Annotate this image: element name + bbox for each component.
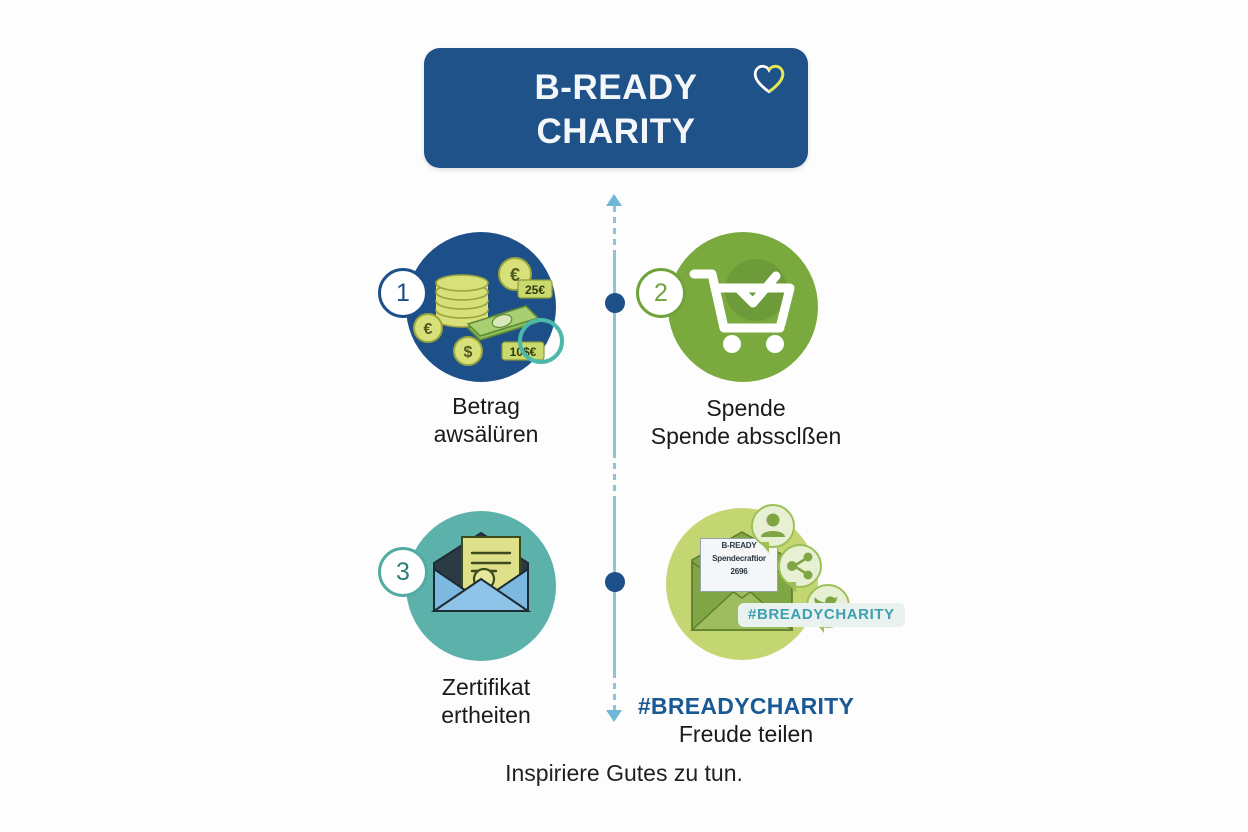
svg-text:€: € bbox=[424, 321, 433, 338]
header-card: B-READY CHARITY bbox=[424, 48, 808, 168]
step-3-labels: Zertifikat ertheiten bbox=[336, 673, 636, 729]
step-4: B-READY Spendecraftior 2696 bbox=[596, 496, 896, 748]
certificate-envelope-icon bbox=[406, 511, 556, 661]
step-2: 2 Spende Spende abssclßen bbox=[596, 232, 896, 450]
step-4-labels: #BREADYCHARITY Freude teilen bbox=[596, 692, 896, 748]
step-1-accent-ring bbox=[518, 318, 564, 364]
certificate-line-3: 2696 bbox=[701, 565, 777, 578]
step-1-labels: Betrag awsälüren bbox=[336, 392, 636, 448]
step-2-label-line-1: Spende bbox=[596, 394, 896, 422]
step-3-label-line-2: ertheiten bbox=[336, 701, 636, 729]
step-2-number-badge: 2 bbox=[636, 268, 686, 318]
user-icon bbox=[753, 506, 793, 546]
step-3-visual: 3 bbox=[336, 511, 636, 661]
step-2-label-line-2: Spende abssclßen bbox=[596, 422, 896, 450]
step-2-labels: Spende Spende abssclßen bbox=[596, 394, 896, 450]
certificate-line-2: Spendecraftior bbox=[701, 552, 777, 565]
step-3: 3 Zertifikat ertheiten bbox=[336, 511, 636, 729]
step-4-visual: B-READY Spendecraftior 2696 bbox=[596, 496, 896, 672]
step-3-number-badge: 3 bbox=[378, 547, 428, 597]
svg-text:$: $ bbox=[464, 344, 473, 361]
infographic-canvas: B-READY CHARITY bbox=[0, 0, 1248, 832]
step-1-visual: € € $ 25€ 10$€ 1 bbox=[336, 232, 636, 382]
overlay-hashtag: #BREADYCHARITY bbox=[738, 603, 905, 627]
step-1-number-badge: 1 bbox=[378, 268, 428, 318]
step-1: € € $ 25€ 10$€ 1 Betrag awsälüren bbox=[336, 232, 636, 448]
share-icon bbox=[780, 546, 820, 586]
svg-text:25€: 25€ bbox=[525, 283, 545, 297]
user-bubble bbox=[751, 504, 795, 548]
page-title: B-READY CHARITY bbox=[424, 66, 808, 154]
footer-caption: Inspiriere Gutes zu tun. bbox=[0, 760, 1248, 787]
step-1-label-line-2: awsälüren bbox=[336, 420, 636, 448]
step-1-label-line-1: Betrag bbox=[336, 392, 636, 420]
step-3-label-line-1: Zertifikat bbox=[336, 673, 636, 701]
share-bubble bbox=[778, 544, 822, 588]
step-4-label-line-1: #BREADYCHARITY bbox=[596, 692, 896, 720]
step-2-visual: 2 bbox=[596, 232, 896, 382]
heart-icon bbox=[752, 62, 786, 96]
timeline-arrow-up bbox=[606, 194, 622, 206]
timeline-dotted-middle bbox=[613, 452, 616, 498]
cart-check-icon bbox=[668, 232, 818, 382]
step-4-label-line-2: Freude teilen bbox=[596, 720, 896, 748]
